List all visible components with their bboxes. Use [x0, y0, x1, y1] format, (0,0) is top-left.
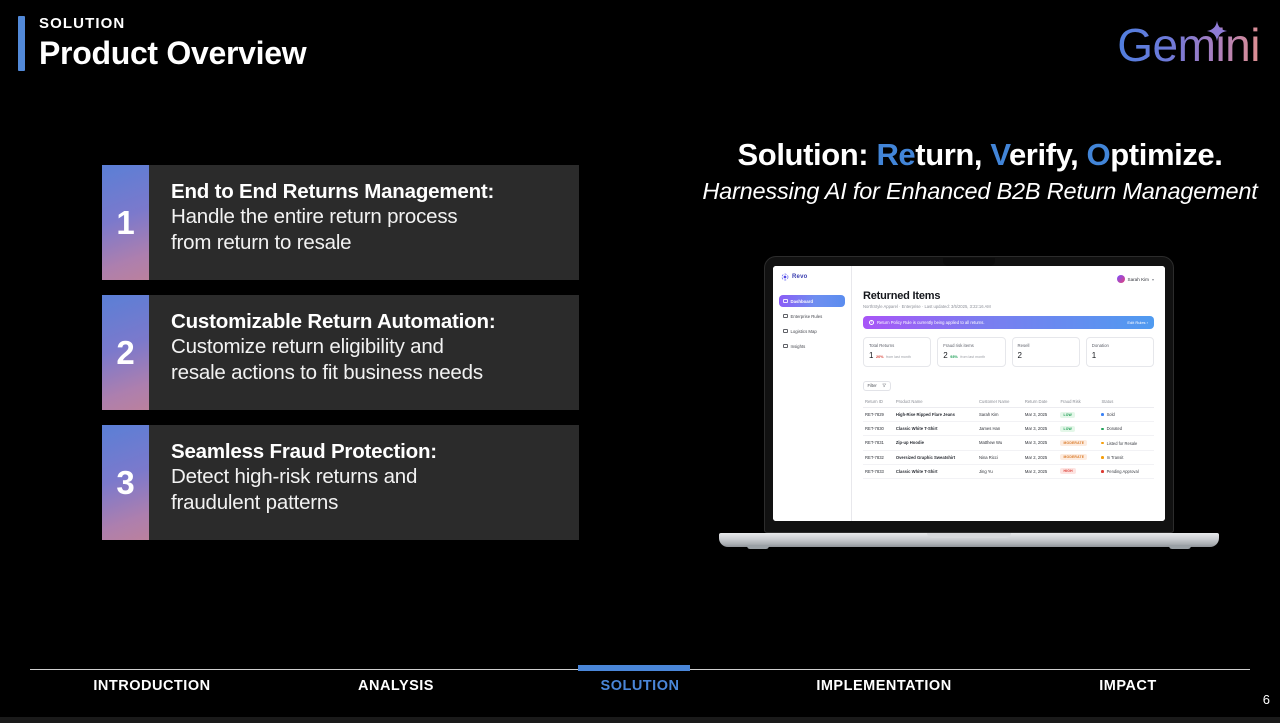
headline-w1-rest: turn, [915, 137, 990, 172]
headline-prefix: Solution: [738, 137, 877, 172]
table-row[interactable]: RET-7832 Oversized Graphic Sweatshirt Ni… [863, 450, 1154, 464]
info-icon: i [869, 320, 874, 325]
risk-badge: MODERATE [1060, 440, 1087, 446]
status-dot-icon [1101, 470, 1104, 473]
kpi-card-total-returns: Total Returns 1 20% from last month [863, 337, 931, 367]
feature-card-line1: Detect high-risk returns and [171, 464, 563, 489]
cell-risk: MODERATE [1058, 450, 1099, 464]
cell-status: Listed for Resale [1099, 436, 1154, 450]
dashboard-main: Sarah Kim ▾ Returned Items NorthStyle Ap… [852, 266, 1165, 521]
table-row[interactable]: RET-7831 Zip-up Hoodie Matthew Wu Mar 3,… [863, 436, 1154, 450]
returned-items-table: Return ID Product Name Customer Name Ret… [863, 396, 1154, 479]
kpi-label: Donation [1092, 343, 1148, 348]
col-status: Status [1099, 396, 1154, 408]
laptop-foot-right [1169, 545, 1191, 549]
sidebar-item-label: Dashboard [791, 299, 813, 304]
feature-card-number: 3 [102, 425, 149, 540]
dashboard-logo: Revo [779, 273, 845, 281]
policy-banner: i Return Policy Rule is currently being … [863, 316, 1154, 329]
status-dot-icon [1101, 456, 1104, 459]
cell-risk: LOW [1058, 408, 1099, 422]
feature-card-line1: Customize return eligibility and [171, 334, 563, 359]
cell-return-id: RET-7831 [863, 436, 894, 450]
sidebar-item-enterprise-rules[interactable]: Enterprise Rules [779, 310, 845, 322]
edit-rules-link[interactable]: Edit Rules › [1127, 320, 1148, 325]
headline-w3-rest: ptimize. [1110, 137, 1222, 172]
dashboard-sidebar: Revo Dashboard Enterprise Rules Logistic… [773, 266, 852, 521]
cell-return-id: RET-7832 [863, 450, 894, 464]
kpi-value: 2 [943, 351, 947, 360]
cell-risk: HIGH [1058, 464, 1099, 478]
cell-risk: MODERATE [1058, 436, 1099, 450]
status-dot-icon [1101, 428, 1104, 431]
kpi-delta: 93% [950, 355, 958, 359]
feature-card: 2 Customizable Return Automation: Custom… [102, 295, 579, 410]
laptop-base-notch [927, 533, 1011, 538]
status-badge: Pending Approval [1107, 469, 1139, 474]
dashboard-page-subtitle: NorthStyle Apparel · Enterprise · Last u… [863, 304, 1154, 309]
headline-w3-accent: O [1087, 137, 1111, 172]
filter-label: Filter [868, 383, 877, 388]
slide-root: SOLUTION Product Overview Gemini 1 End t… [0, 0, 1280, 723]
feature-card-heading: Customizable Return Automation: [171, 309, 563, 334]
cell-return-id: RET-7829 [863, 408, 894, 422]
sidebar-item-dashboard[interactable]: Dashboard [779, 295, 845, 307]
cell-customer: Sarah Kim [977, 408, 1023, 422]
chart-icon [783, 344, 788, 349]
sidebar-item-label: Logistics Map [791, 329, 817, 334]
cell-date: Mar 3, 2025 [1023, 422, 1059, 436]
feature-card-number: 1 [102, 165, 149, 280]
user-menu[interactable]: Sarah Kim ▾ [1117, 275, 1154, 283]
solution-headline-block: Solution: Return, Verify, Optimize. Harn… [700, 136, 1260, 207]
kpi-card-list: Total Returns 1 20% from last month Frau… [863, 337, 1154, 367]
cell-product: High-Rise Ripped Flare Jeans [894, 408, 977, 422]
feature-card-line2: fraudulent patterns [171, 490, 563, 515]
cell-customer: Jing Yu [977, 464, 1023, 478]
feature-card-list: 1 End to End Returns Management: Handle … [102, 165, 579, 555]
cell-customer: Nina Ricci [977, 450, 1023, 464]
dashboard-page-title: Returned Items [863, 290, 1154, 302]
risk-badge: MODERATE [1060, 454, 1087, 460]
cell-status: Pending Approval [1099, 464, 1154, 478]
avatar [1117, 275, 1125, 283]
col-return-date: Return Date [1023, 396, 1059, 408]
gemini-wordmark: Gemini [1117, 18, 1260, 72]
feature-card-line1: Handle the entire return process [171, 204, 563, 229]
headline-w1-accent: Re [876, 137, 915, 172]
feature-card-heading: Seamless Fraud Protection: [171, 439, 563, 464]
sidebar-item-label: Enterprise Rules [791, 314, 823, 319]
cell-customer: James Han [977, 422, 1023, 436]
cell-date: Mar 3, 2025 [1023, 436, 1059, 450]
feature-card-heading: End to End Returns Management: [171, 179, 563, 204]
cell-date: Mar 3, 2025 [1023, 408, 1059, 422]
kpi-value: 1 [869, 351, 873, 360]
chevron-down-icon: ▾ [1152, 277, 1154, 282]
feature-card: 1 End to End Returns Management: Handle … [102, 165, 579, 280]
kpi-delta: 20% [876, 355, 884, 359]
bottom-nav-item-analysis[interactable]: ANALYSIS [274, 678, 518, 694]
bottom-nav-item-impact[interactable]: IMPACT [1006, 678, 1250, 694]
laptop-foot-left [747, 545, 769, 549]
bottom-nav: INTRODUCTION ANALYSIS SOLUTION IMPLEMENT… [30, 678, 1250, 694]
kpi-card-fraud-risk-items: Fraud risk items 2 93% from last month [937, 337, 1005, 367]
cell-risk: LOW [1058, 422, 1099, 436]
risk-badge: LOW [1060, 426, 1075, 432]
kpi-note: from last month [960, 355, 985, 359]
solution-headline: Solution: Return, Verify, Optimize. [700, 136, 1260, 173]
laptop-mockup: Revo Dashboard Enterprise Rules Logistic… [719, 256, 1219, 556]
col-return-id: Return ID [863, 396, 894, 408]
header-eyebrow: SOLUTION [39, 16, 306, 33]
kpi-value: 1 [1092, 351, 1096, 360]
filter-icon [882, 383, 887, 388]
feature-card-number: 2 [102, 295, 149, 410]
risk-badge: LOW [1060, 412, 1075, 418]
bottom-nav-item-solution[interactable]: SOLUTION [518, 678, 762, 694]
cell-status: In Transit [1099, 450, 1154, 464]
page-title: Product Overview [39, 36, 306, 72]
cell-product: Zip-up Hoodie [894, 436, 977, 450]
headline-w2-accent: V [990, 137, 1009, 172]
sidebar-item-logistics-map[interactable]: Logistics Map [779, 325, 845, 337]
table-header-row: Return ID Product Name Customer Name Ret… [863, 396, 1154, 408]
dashboard-screen: Revo Dashboard Enterprise Rules Logistic… [773, 266, 1165, 521]
gemini-logo: Gemini [1117, 18, 1260, 74]
col-product-name: Product Name [894, 396, 977, 408]
bottom-nav-active-indicator [578, 665, 690, 671]
dashboard-icon [783, 299, 788, 304]
cell-return-id: RET-7833 [863, 464, 894, 478]
col-customer-name: Customer Name [977, 396, 1023, 408]
col-fraud-risk: Fraud Risk [1058, 396, 1099, 408]
table-row[interactable]: RET-7829 High-Rise Ripped Flare Jeans Sa… [863, 408, 1154, 422]
kpi-label: Fraud risk items [943, 343, 999, 348]
cell-status: Sold [1099, 408, 1154, 422]
page-number: 6 [1263, 692, 1270, 707]
feature-card-line2: resale actions to fit business needs [171, 360, 563, 385]
cell-customer: Matthew Wu [977, 436, 1023, 450]
table-row[interactable]: RET-7833 Classic White T-Shirt Jing Yu M… [863, 464, 1154, 478]
status-badge: Listed for Resale [1107, 441, 1138, 446]
kpi-value: 2 [1018, 351, 1022, 360]
footer-strip [0, 717, 1280, 723]
cell-product: Oversized Graphic Sweatshirt [894, 450, 977, 464]
header-accent-bar [18, 16, 25, 71]
cell-date: Mar 2, 2025 [1023, 464, 1059, 478]
headline-w2-rest: erify, [1009, 137, 1087, 172]
laptop-notch [943, 258, 995, 266]
cell-product: Classic White T-Shirt [894, 422, 977, 436]
feature-card-line2: from return to resale [171, 230, 563, 255]
sidebar-item-label: Insights [791, 344, 806, 349]
cell-return-id: RET-7830 [863, 422, 894, 436]
solution-subtitle: Harnessing AI for Enhanced B2B Return Ma… [700, 177, 1260, 206]
map-icon [783, 329, 788, 334]
status-badge: Sold [1107, 412, 1115, 417]
bottom-nav-item-implementation[interactable]: IMPLEMENTATION [762, 678, 1006, 694]
cell-status: Donated [1099, 422, 1154, 436]
slide-header: SOLUTION Product Overview [18, 16, 306, 71]
user-name: Sarah Kim [1128, 277, 1149, 282]
status-dot-icon [1101, 442, 1104, 445]
status-badge: In Transit [1107, 455, 1124, 460]
revo-logo-text: Revo [792, 274, 807, 280]
laptop-lid: Revo Dashboard Enterprise Rules Logistic… [764, 256, 1174, 533]
kpi-card-resell: Resell 2 [1012, 337, 1080, 367]
sidebar-item-insights[interactable]: Insights [779, 340, 845, 352]
revo-logo-icon [781, 273, 789, 281]
kpi-label: Resell [1018, 343, 1074, 348]
bottom-nav-item-introduction[interactable]: INTRODUCTION [30, 678, 274, 694]
rules-icon [783, 314, 788, 319]
kpi-label: Total Returns [869, 343, 925, 348]
table-row[interactable]: RET-7830 Classic White T-Shirt James Han… [863, 422, 1154, 436]
status-badge: Donated [1107, 426, 1122, 431]
kpi-card-donation: Donation 1 [1086, 337, 1154, 367]
cell-date: Mar 2, 2025 [1023, 450, 1059, 464]
feature-card: 3 Seamless Fraud Protection: Detect high… [102, 425, 579, 540]
dashboard-topbar: Sarah Kim ▾ [863, 275, 1154, 283]
filter-button[interactable]: Filter [863, 381, 891, 391]
kpi-note: from last month [886, 355, 911, 359]
cell-product: Classic White T-Shirt [894, 464, 977, 478]
risk-badge: HIGH [1060, 468, 1075, 474]
policy-banner-text: Return Policy Rule is currently being ap… [877, 320, 985, 325]
status-dot-icon [1101, 413, 1104, 416]
sparkle-icon [1206, 20, 1228, 42]
